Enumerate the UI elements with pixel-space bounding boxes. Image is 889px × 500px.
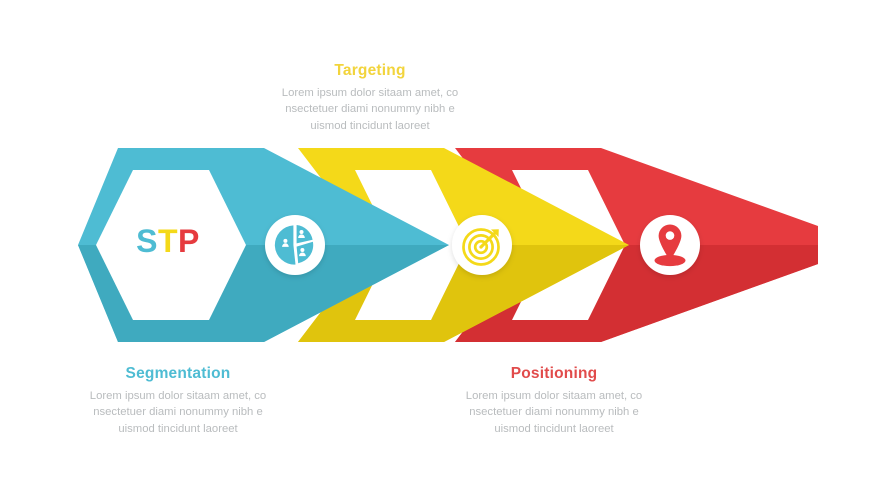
- caption-body-positioning-line-1: Lorem ipsum dolor sitaam amet, co: [449, 388, 659, 404]
- caption-body-targeting-line-3: uismod tincidunt laoreet: [265, 118, 475, 134]
- caption-body-segmentation-line-1: Lorem ipsum dolor sitaam amet, co: [73, 388, 283, 404]
- caption-positioning[interactable]: Positioning Lorem ipsum dolor sitaam ame…: [449, 365, 659, 437]
- caption-title-targeting: Targeting: [265, 62, 475, 79]
- caption-body-positioning-line-2: nsectetuer diami nonummy nibh e: [449, 404, 659, 420]
- icon-badge-segmentation[interactable]: [265, 215, 325, 275]
- caption-body-segmentation-line-3: uismod tincidunt laoreet: [73, 421, 283, 437]
- stp-letter-t: T: [158, 223, 178, 259]
- caption-body-targeting-line-1: Lorem ipsum dolor sitaam amet, co: [265, 85, 475, 101]
- caption-body-positioning-line-3: uismod tincidunt laoreet: [449, 421, 659, 437]
- caption-body-segmentation-line-2: nsectetuer diami nonummy nibh e: [73, 404, 283, 420]
- stp-acronym: STP: [113, 225, 223, 257]
- infographic-canvas: STP Targeting Lorem ipsum dolor sitaam a…: [0, 0, 889, 500]
- caption-segmentation[interactable]: Segmentation Lorem ipsum dolor sitaam am…: [73, 365, 283, 437]
- caption-body-targeting-line-2: nsectetuer diami nonummy nibh e: [265, 101, 475, 117]
- caption-targeting[interactable]: Targeting Lorem ipsum dolor sitaam amet,…: [265, 62, 475, 134]
- stp-letter-s: S: [136, 223, 158, 259]
- caption-title-positioning: Positioning: [449, 365, 659, 382]
- stp-letter-p: P: [178, 223, 200, 259]
- caption-title-segmentation: Segmentation: [73, 365, 283, 382]
- target-arrow-icon: [464, 229, 499, 264]
